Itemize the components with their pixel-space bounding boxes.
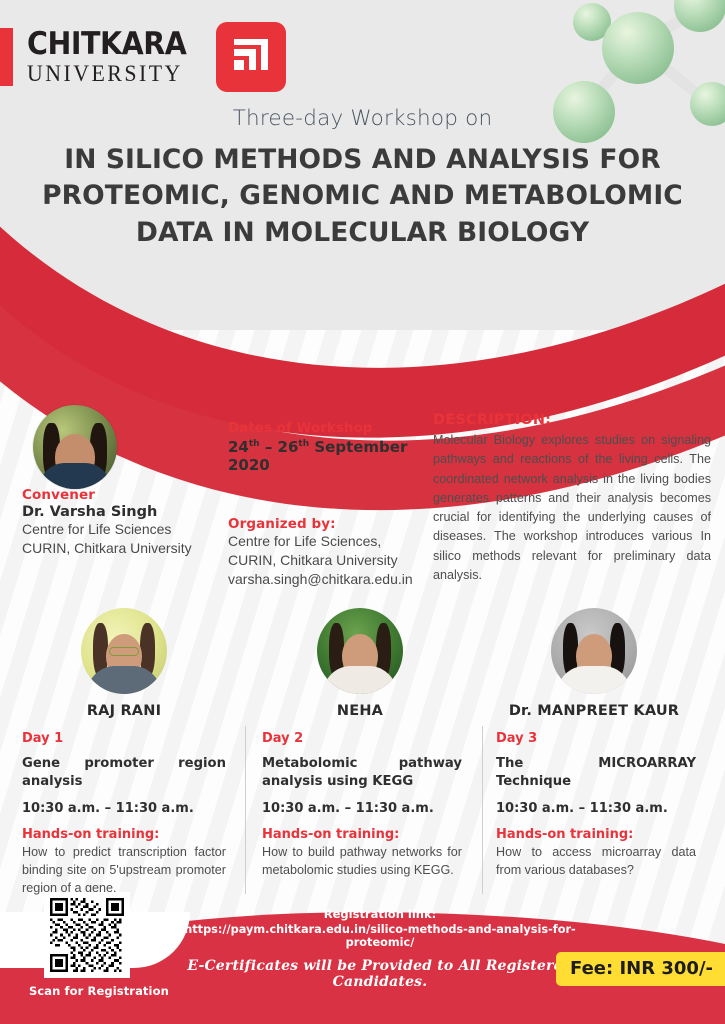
day-label-2: Day 2	[262, 731, 462, 746]
hands-on-label-1: Hands-on training:	[22, 827, 226, 842]
title-block: Three-day Workshop on IN SILICO METHODS …	[0, 106, 725, 251]
qr-code-icon[interactable]	[44, 892, 130, 978]
registration-label: Registration link:	[155, 907, 605, 921]
convener-name: Dr. Varsha Singh	[22, 504, 222, 520]
hands-on-label-2: Hands-on training:	[262, 827, 462, 842]
chitkara-logo-mark-icon	[216, 22, 286, 92]
workshop-eyebrow: Three-day Workshop on	[0, 106, 725, 131]
speaker-name-day2: NEHA	[244, 703, 476, 719]
topic-day3: The MICROARRAY Technique	[496, 755, 696, 791]
convener-affiliation-1: Centre for Life Sciences	[22, 520, 222, 539]
dates-value: 24th – 26th September 2020	[228, 438, 433, 474]
description-body: Molecular Biology explores studies on si…	[433, 431, 711, 585]
description-block: DESCRIPTION: Molecular Biology explores …	[433, 412, 711, 585]
qr-scan-label: Scan for Registration	[29, 984, 169, 998]
logo-name: CHITKARA	[27, 29, 186, 60]
organizer-line-1: Centre for Life Sciences,	[228, 532, 433, 551]
speaker-avatar-day2	[317, 608, 403, 694]
logo-subtitle: UNIVERSITY	[27, 62, 192, 85]
university-logo: CHITKARA UNIVERSITY	[0, 22, 286, 92]
poster-root: CHITKARA UNIVERSITY Three-day Workshop o…	[0, 0, 725, 1024]
hands-on-body-3: How to access microarray data from vario…	[496, 843, 696, 880]
date-end-day: 26	[278, 438, 299, 456]
speakers-section: RAJ RANI Day 1 Gene promoter region anal…	[0, 608, 725, 898]
speaker-avatar-day3	[551, 608, 637, 694]
footer-band: Scan for Registration Registration link:…	[0, 918, 725, 1024]
registration-info: Registration link: https://paym.chitkara…	[155, 907, 605, 990]
convener-affiliation-2: CURIN, Chitkara University	[22, 539, 222, 558]
hands-on-body-2: How to build pathway networks for metabo…	[262, 843, 462, 880]
convener-details: Convener Dr. Varsha Singh Centre for Lif…	[22, 487, 222, 558]
speaker-card-day1: RAJ RANI Day 1 Gene promoter region anal…	[8, 608, 240, 897]
topic-day1: Gene promoter region analysis	[22, 755, 226, 791]
speaker-name-day3: Dr. MANPREET KAUR	[478, 703, 710, 719]
date-start-day: 24	[228, 438, 249, 456]
column-divider-2	[482, 726, 483, 894]
organized-by-label: Organized by:	[228, 516, 433, 532]
topic-day2: Metabolomic pathway analysis using KEGG	[262, 755, 462, 791]
time-day1: 10:30 a.m. – 11:30 a.m.	[22, 801, 226, 816]
date-separator: –	[260, 438, 278, 456]
speaker-avatar-day1	[81, 608, 167, 694]
description-label: DESCRIPTION:	[433, 412, 711, 428]
day-label-3: Day 3	[496, 731, 696, 746]
logo-red-bar	[0, 28, 13, 86]
date-start-ordinal: th	[249, 439, 260, 449]
date-end-ordinal: th	[298, 439, 309, 449]
speaker-card-day3: Dr. MANPREET KAUR Day 3 The MICROARRAY T…	[478, 608, 710, 879]
hands-on-body-1: How to predict transcription factor bind…	[22, 843, 226, 898]
convener-avatar	[33, 405, 117, 489]
fee-badge: Fee: INR 300/-	[556, 952, 725, 986]
dates-and-organizer: Dates of Workshop 24th – 26th September …	[228, 420, 433, 590]
certificate-note: E-Certificates will be Provided to All R…	[155, 958, 605, 990]
organizer-email[interactable]: varsha.singh@chitkara.edu.in	[228, 570, 433, 589]
hands-on-label-3: Hands-on training:	[496, 827, 696, 842]
convener-role-label: Convener	[22, 487, 222, 503]
column-divider-1	[245, 726, 246, 894]
dates-label: Dates of Workshop	[228, 420, 433, 436]
speaker-card-day2: NEHA Day 2 Metabolomic pathway analysis …	[244, 608, 476, 879]
time-day2: 10:30 a.m. – 11:30 a.m.	[262, 801, 462, 816]
registration-url[interactable]: https://paym.chitkara.edu.in/silico-meth…	[155, 923, 605, 949]
speaker-name-day1: RAJ RANI	[8, 703, 240, 719]
page-title: IN SILICO METHODS AND ANALYSIS FOR PROTE…	[0, 142, 725, 251]
day-label-1: Day 1	[22, 731, 226, 746]
time-day3: 10:30 a.m. – 11:30 a.m.	[496, 801, 696, 816]
organizer-line-2: CURIN, Chitkara University	[228, 551, 433, 570]
